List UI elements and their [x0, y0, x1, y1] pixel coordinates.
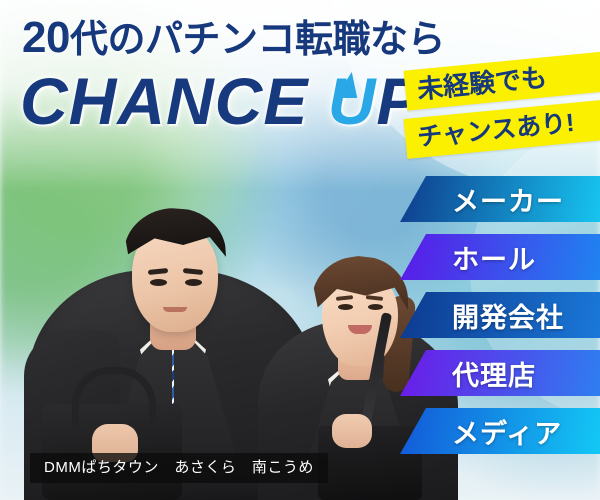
logo-chance-word: CHANCE	[20, 64, 308, 138]
recruitment-banner: 20代のパチンコ転職なら CHANCE UP 未経験でも チャンスあり! メーカ…	[0, 0, 600, 500]
category-label: ホール	[452, 238, 536, 277]
category-label: 開発会社	[452, 296, 564, 335]
badge-line-1: 未経験でも	[404, 51, 600, 110]
businesswoman-eye-left	[338, 304, 353, 310]
category-item-media[interactable]: メディア	[400, 408, 600, 454]
businessman-eye-right	[185, 279, 202, 286]
category-item-hall[interactable]: ホール	[400, 234, 600, 280]
category-label: メーカー	[452, 180, 564, 219]
category-item-agency[interactable]: 代理店	[400, 350, 600, 396]
businesswoman-hand	[332, 414, 372, 448]
headline-number: 20	[22, 13, 70, 62]
headline-text: 代のパチンコ転職なら	[70, 19, 445, 61]
category-item-maker[interactable]: メーカー	[400, 176, 600, 222]
job-category-list: メーカー ホール 開発会社 代理店 メディア	[400, 176, 600, 466]
category-label: 代理店	[452, 354, 536, 393]
businessman-mouth	[163, 307, 187, 312]
credits-caption: DMMぱちタウン あさくら 南こうめ	[30, 453, 328, 483]
headline: 20代のパチンコ転職なら	[22, 16, 452, 60]
businesswoman-eye-right	[368, 304, 383, 310]
category-label: メディア	[452, 412, 562, 451]
inexperienced-welcome-badge: 未経験でも チャンスあり!	[405, 57, 595, 157]
businessman-briefcase-handle	[72, 367, 156, 426]
logo-up-u-arrow: U	[328, 68, 377, 134]
category-item-developer[interactable]: 開発会社	[400, 292, 600, 338]
businessman-eye-left	[150, 279, 167, 286]
chance-up-logo: CHANCE UP	[20, 68, 421, 134]
